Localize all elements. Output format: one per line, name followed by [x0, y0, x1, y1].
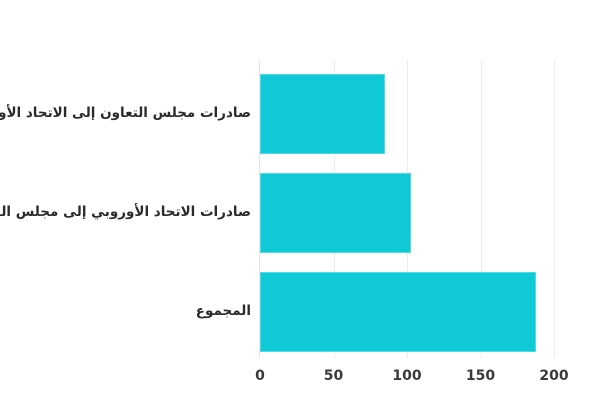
category-label: المجموع [0, 305, 251, 319]
chart-canvas: صادرات مجلس التعاون إلى الاتحاد الأوروبي… [0, 0, 600, 410]
x-tick-label: 0 [230, 368, 290, 384]
x-tick-label: 50 [304, 368, 364, 384]
bar[interactable] [260, 272, 536, 352]
category-label: صادرات الاتحاد الأوروبي إلى مجلس التعاون [0, 206, 251, 220]
bar[interactable] [260, 74, 385, 154]
plot-area [260, 60, 554, 358]
gridline-200 [554, 60, 555, 358]
x-tick-label: 100 [377, 368, 437, 384]
x-tick-label: 200 [524, 368, 584, 384]
category-label: صادرات مجلس التعاون إلى الاتحاد الأوروبي [0, 107, 251, 121]
bar[interactable] [260, 173, 411, 253]
x-tick-label: 150 [451, 368, 511, 384]
